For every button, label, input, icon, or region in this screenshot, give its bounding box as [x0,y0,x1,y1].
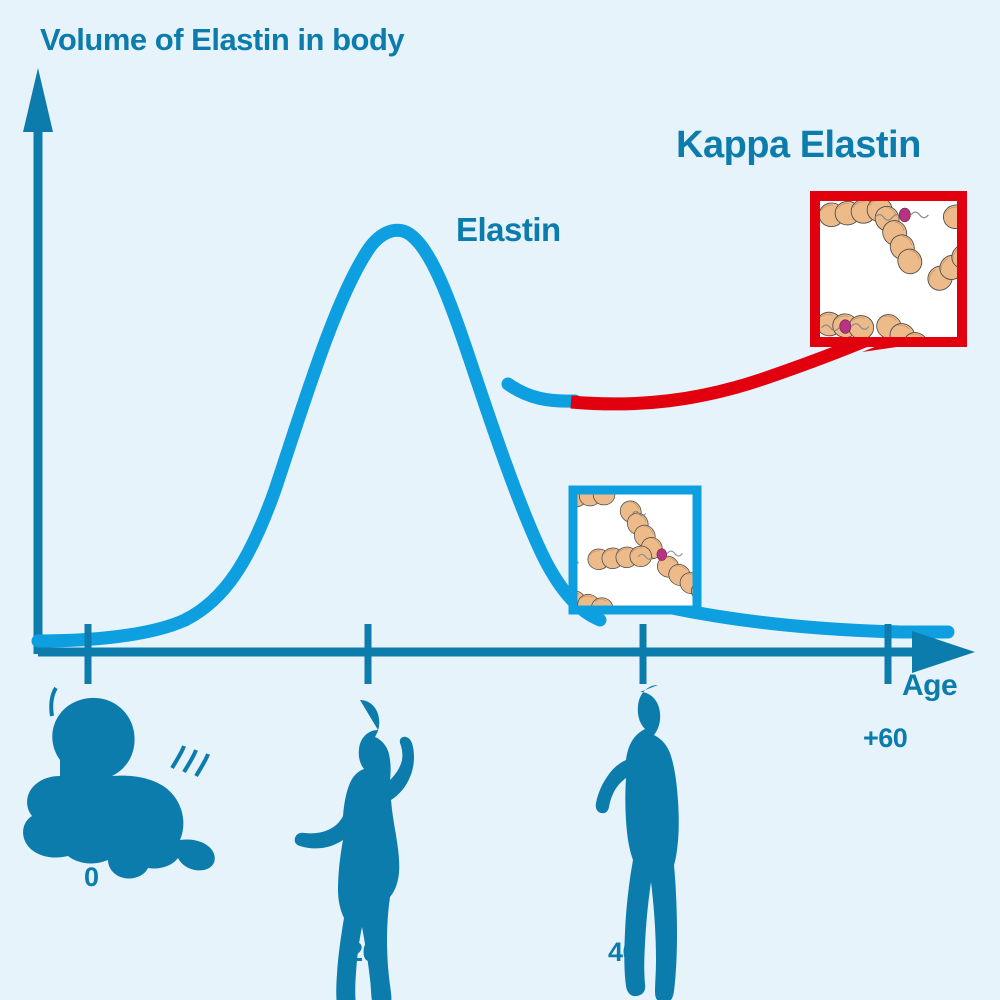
x-tick-label-60: +60 [863,723,907,754]
x-tick-label-20: 20 [348,937,377,968]
elastin-series-label: Elastin [456,211,561,249]
baby-silhouette [23,688,215,879]
kappa-elastin-curve [571,338,938,404]
kappa-elastin-inset[interactable] [815,196,1000,392]
infographic-canvas: Volume of Elastin in body Kappa Elastin … [0,0,1000,1000]
y-axis [23,68,53,654]
elastin-inset[interactable] [556,484,717,621]
x-axis-label: Age [902,669,957,703]
x-tick-label-40: 40 [608,937,637,968]
x-tick-label-0: 0 [84,862,99,893]
page-title: Volume of Elastin in body [40,22,404,58]
kappa-elastin-title: Kappa Elastin [676,124,921,167]
